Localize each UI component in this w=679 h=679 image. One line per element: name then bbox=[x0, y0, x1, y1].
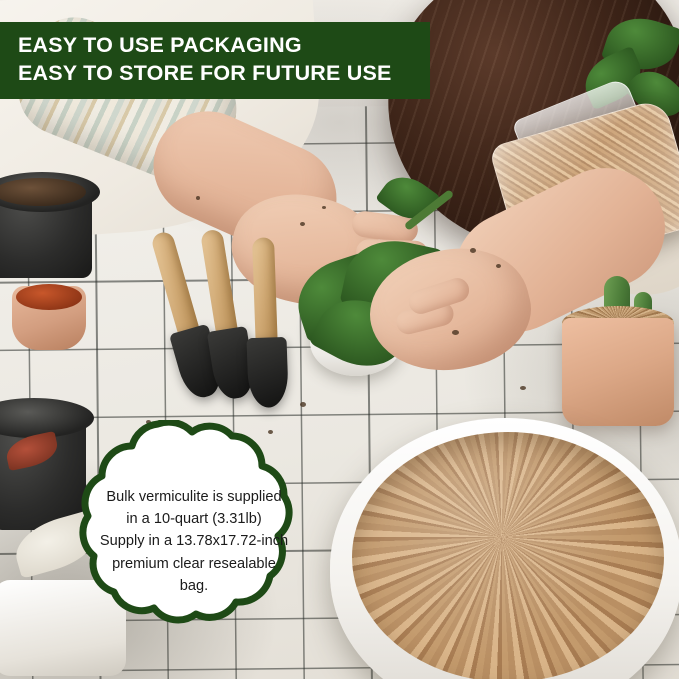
soil-speck bbox=[300, 402, 306, 407]
callout-line-5: bag. bbox=[84, 575, 304, 597]
headline-banner: EASY TO USE PACKAGING EASY TO STORE FOR … bbox=[0, 22, 430, 99]
trowel-handle bbox=[252, 237, 278, 348]
callout-line-3: Supply in a 13.78x17.72-inch bbox=[84, 530, 304, 552]
soil-speck bbox=[470, 248, 476, 253]
soil-speck bbox=[452, 330, 459, 335]
callout-line-1: Bulk vermiculite is supplied bbox=[84, 486, 304, 508]
callout-line-4: premium clear resealable bbox=[84, 553, 304, 575]
soil-speck bbox=[520, 386, 526, 390]
product-photo: EASY TO USE PACKAGING EASY TO STORE FOR … bbox=[0, 0, 679, 679]
cloud-callout: Bulk vermiculite is supplied in a 10-qua… bbox=[44, 420, 344, 650]
headline-line-2: EASY TO STORE FOR FUTURE USE bbox=[18, 60, 416, 88]
soil-speck bbox=[300, 222, 305, 226]
callout-text: Bulk vermiculite is supplied in a 10-qua… bbox=[84, 486, 304, 597]
saucer-contents bbox=[16, 284, 82, 310]
headline-line-1: EASY TO USE PACKAGING bbox=[18, 32, 416, 60]
soil-speck bbox=[196, 196, 200, 200]
cactus-terracotta-pot bbox=[562, 318, 674, 426]
soil-speck bbox=[496, 264, 501, 268]
vermiculite-in-bowl bbox=[352, 432, 664, 679]
callout-line-2: in a 10-quart (3.31lb) bbox=[84, 508, 304, 530]
soil-speck bbox=[322, 206, 326, 209]
